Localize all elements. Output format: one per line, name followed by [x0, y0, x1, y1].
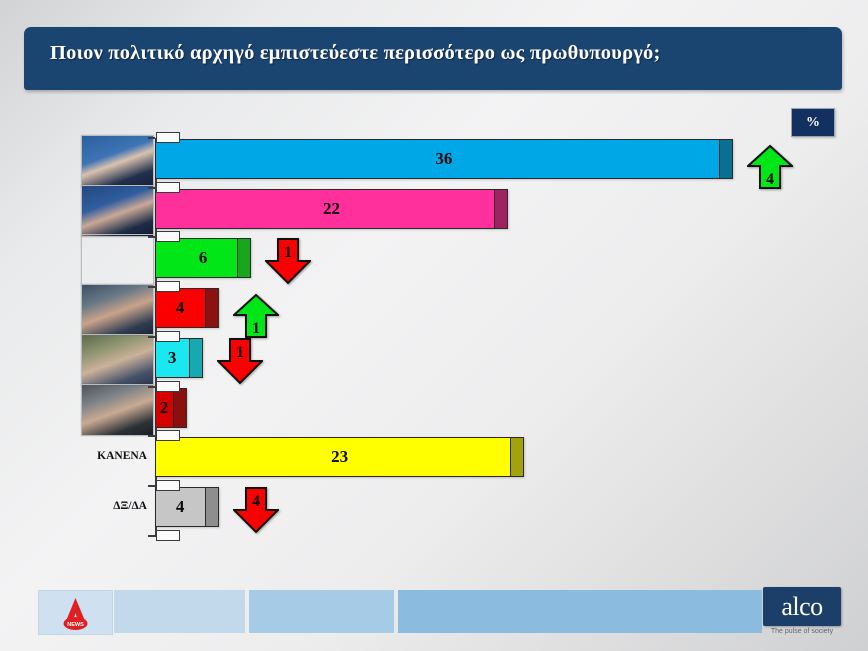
- portrait-photo-2: [81, 185, 154, 238]
- axis-notch: [156, 231, 180, 242]
- portrait-photo-3: [81, 234, 154, 287]
- footer: NEWS alco The pulse of society: [0, 578, 868, 651]
- alco-wordmark: alco: [781, 594, 822, 620]
- axis-tick: [148, 386, 155, 388]
- axis-notch: [156, 480, 180, 491]
- alco-logo: alco: [763, 587, 841, 626]
- axis-tick-end: [148, 535, 155, 537]
- axis-notch: [156, 331, 180, 342]
- footer-bar-3: [398, 590, 762, 633]
- axis-notch: [156, 381, 180, 392]
- axis-tick: [148, 435, 155, 437]
- bar-value-label: 2: [160, 398, 169, 418]
- bar-leader-5: 3: [155, 338, 203, 378]
- axis-notch: [156, 430, 180, 441]
- increase-arrow: 1: [233, 292, 279, 342]
- bar-leader-6: 2: [155, 388, 187, 428]
- bar-value-label: 4: [176, 298, 185, 318]
- bar-leader-3: 6: [155, 238, 251, 278]
- decrease-arrow: 1: [265, 236, 311, 286]
- anews-icon: NEWS: [39, 591, 112, 634]
- alco-tagline: The pulse of society: [763, 628, 841, 635]
- bar-leader-1: 36: [155, 139, 733, 179]
- bar-end-cap: [510, 437, 524, 477]
- bar-value-label: 6: [199, 248, 208, 268]
- bar-end-cap: [173, 388, 187, 428]
- axis-tick: [148, 137, 155, 139]
- footer-bar-1: [114, 590, 245, 633]
- axis-notch: [156, 182, 180, 193]
- bar-value-label: 36: [435, 149, 452, 169]
- category-label-ΔΞ/ΔΑ: ΔΞ/ΔΑ: [62, 500, 147, 512]
- anews-logo-box: NEWS: [38, 590, 113, 635]
- category-label-ΚΑΝΕΝΑ: ΚΑΝΕΝΑ: [62, 450, 147, 462]
- bar-end-cap: [237, 238, 251, 278]
- axis-tick: [148, 187, 155, 189]
- footer-bar-2: [249, 590, 394, 633]
- anews-word-text: NEWS: [67, 622, 84, 628]
- axis-notch: [156, 281, 180, 292]
- svg-text:4: 4: [766, 171, 774, 188]
- axis-tick: [148, 286, 155, 288]
- bar-leader-2: 22: [155, 189, 508, 229]
- bar-ΚΑΝΕΝΑ: 23: [155, 437, 524, 477]
- axis-tick: [148, 485, 155, 487]
- svg-text:1: 1: [284, 244, 292, 261]
- portrait-photo-6: [81, 384, 154, 437]
- bar-ΔΞ/ΔΑ: 4: [155, 487, 219, 527]
- axis-notch-end: [156, 530, 180, 541]
- bar-end-cap: [494, 189, 508, 229]
- svg-text:1: 1: [252, 320, 260, 337]
- portrait-photo-4: [81, 284, 154, 337]
- bar-end-cap: [205, 288, 219, 328]
- portrait-photo-1: [81, 135, 154, 188]
- axis-tick: [148, 236, 155, 238]
- bar-value-label: 4: [176, 497, 185, 517]
- axis-tick: [148, 336, 155, 338]
- bar-value-label: 22: [323, 199, 340, 219]
- increase-arrow: 4: [747, 143, 793, 193]
- svg-text:1: 1: [236, 344, 244, 361]
- decrease-arrow: 4: [233, 485, 279, 535]
- bar-leader-4: 4: [155, 288, 219, 328]
- portrait-photo-5: [81, 334, 154, 387]
- bar-end-cap: [719, 139, 733, 179]
- bar-value-label: 3: [168, 348, 177, 368]
- bar-end-cap: [205, 487, 219, 527]
- decrease-arrow: 1: [217, 336, 263, 386]
- bar-value-label: 23: [331, 447, 348, 467]
- bar-end-cap: [189, 338, 203, 378]
- axis-notch: [156, 132, 180, 143]
- svg-text:4: 4: [252, 493, 260, 510]
- bar-chart: 36226432234 4111ΚΑΝΕΝΑΔΞ/ΔΑ4: [0, 0, 868, 651]
